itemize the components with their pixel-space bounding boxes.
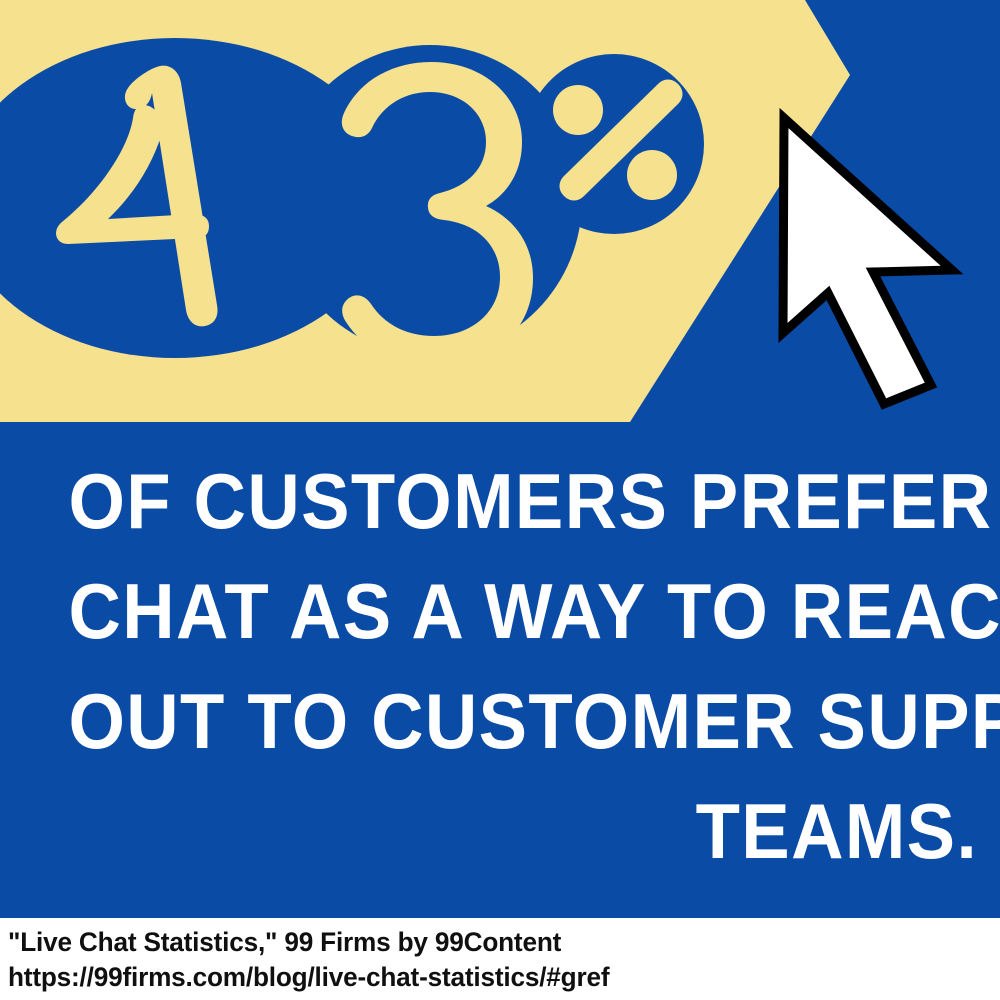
attribution-source: "Live Chat Statistics," 99 Firms by 99Co… — [8, 925, 970, 960]
attribution-url[interactable]: https://99firms.com/blog/live-chat-stati… — [8, 960, 970, 995]
poster-artwork — [0, 0, 1000, 1000]
infographic-poster: OF CUSTOMERS PREFER LIVE CHAT AS A WAY T… — [0, 0, 1000, 1000]
attribution-bar: "Live Chat Statistics," 99 Firms by 99Co… — [0, 918, 1000, 1000]
